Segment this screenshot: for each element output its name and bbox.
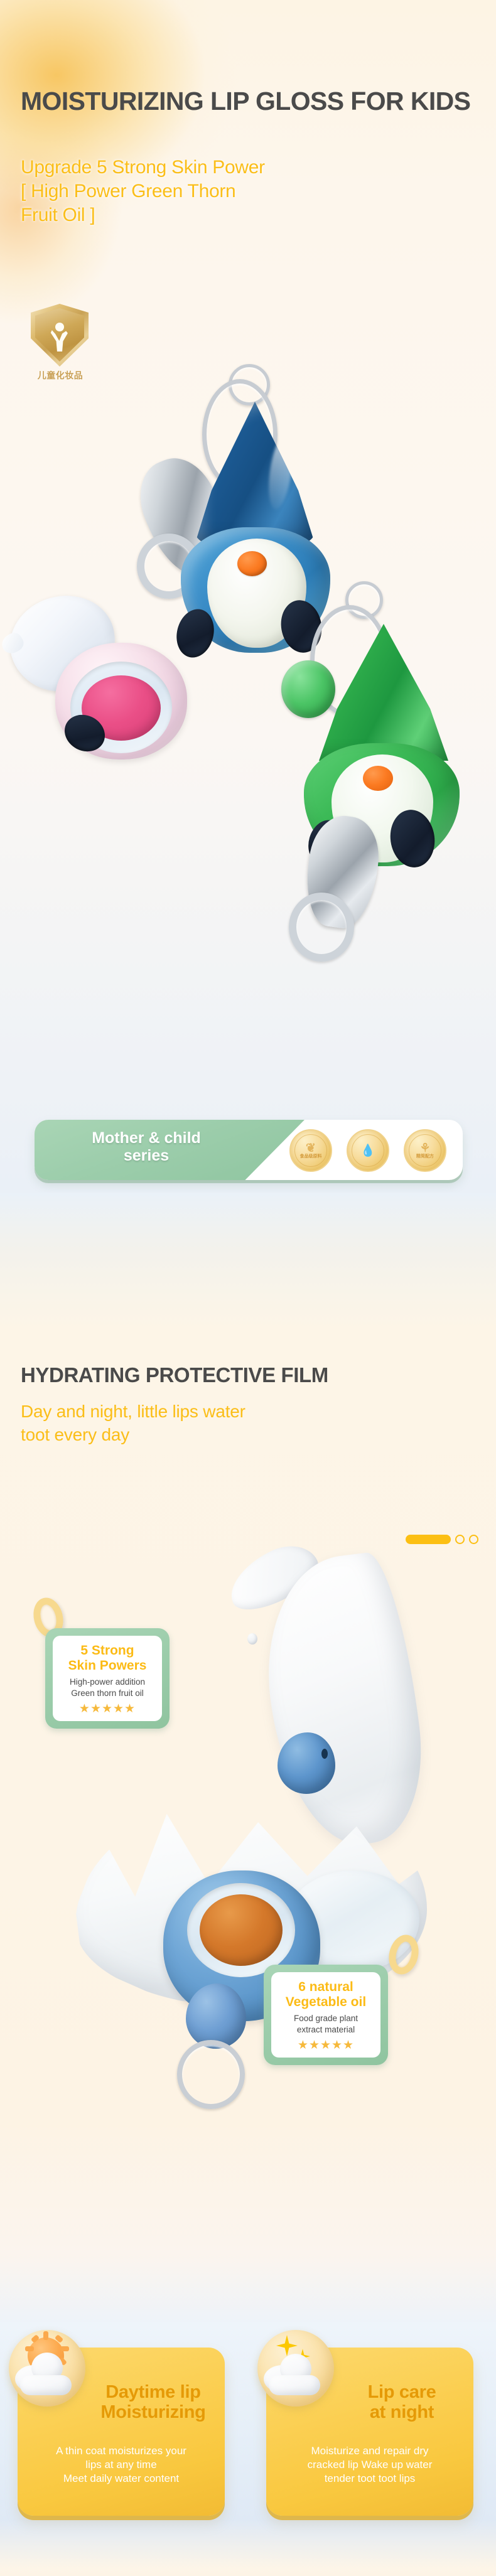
hydrating-film-section: HYDRATING PROTECTIVE FILM Day and night,… [0,1193,496,2322]
daytime-card-body-line-2: lips at any time [25,2458,217,2472]
flask-icon: ⚘ [419,1142,430,1154]
sun-ray-3 [43,2331,48,2340]
sun-ray-1 [25,2346,34,2351]
section2-subtitle-line-2: toot every day [21,1423,448,1446]
section2-title: HYDRATING PROTECTIVE FILM [21,1363,479,1387]
banner-title: Mother & child series [46,1130,247,1164]
section2-subtitle-line-1: Day and night, little lips water [21,1400,448,1423]
feature-card-1-title: 5 Strong Skin Powers [58,1643,157,1673]
sparkle-cloud-icon [257,2330,334,2407]
gnome-nose-icon-green [363,766,393,791]
feature-card-1-star-rating: ★★★★★ [58,1703,157,1715]
feature-card-1-title-line-1: 5 Strong [58,1643,157,1658]
blue-bell-lower-icon [186,1983,246,2049]
clasp-ring-green [289,893,354,962]
feature-card-2-desc: Food grade plant extract material [276,2013,375,2036]
hero-subtitle: Upgrade 5 Strong Skin Power [ High Power… [21,156,460,227]
banner-title-line-2: series [46,1147,247,1165]
feature-card-2-title: 6 natural Vegetable oil [276,1980,375,2009]
page-title: MOISTURIZING LIP GLOSS FOR KIDS [21,87,473,116]
banner-medallion-group: ❦ 食品级原料 💧 ⚘ 精简配方 [289,1129,446,1173]
feature-card-2-title-line-1: 6 natural [276,1980,375,1995]
medallion-food-grade-inner: ❦ 食品级原料 [294,1134,327,1167]
hero-subtitle-line-3: Fruit Oil ] [21,203,460,227]
feature-card-1-desc-line-1: High-power addition [58,1677,157,1688]
feature-card-1-desc-line-2: Green thorn fruit oil [58,1688,157,1699]
banner-title-line-1: Mother & child [46,1130,247,1147]
feature-card-2-desc-line-2: extract material [276,2024,375,2036]
cloud-shape-night [264,2351,323,2391]
feature-card-vegetable-oil-inner: 6 natural Vegetable oil Food grade plant… [271,1972,380,2058]
pagination-dot-2[interactable] [455,1535,465,1544]
night-card-body-line-1: Moisturize and repair dry [274,2444,466,2458]
daytime-card-title-line-1: Daytime lip [88,2383,218,2403]
mother-child-series-banner[interactable]: Mother & child series ❦ 食品级原料 💧 ⚘ 精简配方 [35,1120,463,1180]
night-card-body-line-2: cracked lip Wake up water [274,2458,466,2472]
feature-card-2-desc-line-1: Food grade plant [276,2013,375,2024]
medallion-simple-formula-inner: ⚘ 精简配方 [409,1134,441,1167]
feature-card-1-desc: High-power addition Green thorn fruit oi… [58,1677,157,1699]
medallion-food-grade-label: 食品级原料 [300,1154,322,1159]
cloud-shape-day [15,2351,74,2391]
night-card-body-line-3: tender toot toot lips [274,2472,466,2486]
feature-card-skin-powers: 5 Strong Skin Powers High-power addition… [45,1628,170,1729]
medallion-moisture-inner: 💧 [352,1134,384,1167]
milk-droplet [247,1633,257,1645]
night-card-title: Lip care at night [337,2383,467,2423]
hero-subtitle-line-2: [ High Power Green Thorn [21,180,460,203]
cloud-lobe-n3 [269,2375,320,2395]
daytime-card-title-line-2: Moisturizing [88,2403,218,2423]
green-gnome-keychain [271,609,478,872]
feature-card-2-star-rating: ★★★★★ [276,2039,375,2051]
feature-card-2-title-line-2: Vegetable oil [276,1995,375,2010]
feature-card-vegetable-oil: 6 natural Vegetable oil Food grade plant… [264,1965,388,2065]
green-bell-icon [281,660,335,718]
daytime-card-body-line-1: A thin coat moisturizes your [25,2444,217,2458]
night-card-body: Moisturize and repair dry cracked lip Wa… [274,2444,466,2486]
hero-subtitle-line-1: Upgrade 5 Strong Skin Power [21,156,460,180]
daytime-moisturizing-card: Daytime lip Moisturizing A thin coat moi… [18,2348,225,2516]
hat-highlight [265,433,296,511]
day-night-section: Daytime lip Moisturizing A thin coat moi… [0,2322,496,2576]
keyring-lower [177,2040,245,2109]
medallion-food-grade: ❦ 食品级原料 [289,1129,332,1172]
blue-bell-upper-icon [278,1732,335,1794]
carousel-pagination[interactable] [406,1535,478,1544]
open-lip-gloss-pot [6,590,195,759]
sun-cloud-icon [9,2330,85,2407]
leaf-icon: ❦ [306,1142,316,1154]
section2-subtitle: Day and night, little lips water toot ev… [21,1400,448,1446]
pagination-dot-3[interactable] [469,1535,478,1544]
cloud-lobe-3 [20,2375,72,2395]
pagination-dot-active[interactable] [406,1535,451,1544]
medallion-moisture: 💧 [347,1129,389,1172]
hero-section: MOISTURIZING LIP GLOSS FOR KIDS Upgrade … [0,0,496,1193]
daytime-card-body-line-3: Meet daily water content [25,2472,217,2486]
daytime-card-title: Daytime lip Moisturizing [88,2383,218,2423]
medallion-simple-formula: ⚘ 精简配方 [404,1129,446,1172]
medallion-simple-formula-label: 精简配方 [416,1154,434,1159]
amber-gloss-product [200,1894,283,1966]
night-card-title-line-2: at night [337,2403,467,2423]
feature-card-1-title-line-2: Skin Powers [58,1658,157,1673]
gnome-nose-icon [237,551,267,576]
pot-lid-tab [0,630,26,657]
feature-card-skin-powers-inner: 5 Strong Skin Powers High-power addition… [53,1636,162,1721]
sun-ray-2 [60,2346,69,2351]
shield-child-head [55,323,64,331]
night-lipcare-card: Lip care at night Moisturize and repair … [266,2348,473,2516]
blue-pot-rim [187,1883,295,1977]
daytime-card-body: A thin coat moisturizes your lips at any… [25,2444,217,2486]
night-card-title-line-1: Lip care [337,2383,467,2403]
water-drop-icon: 💧 [360,1145,375,1157]
hero-product-photo [0,352,496,1055]
